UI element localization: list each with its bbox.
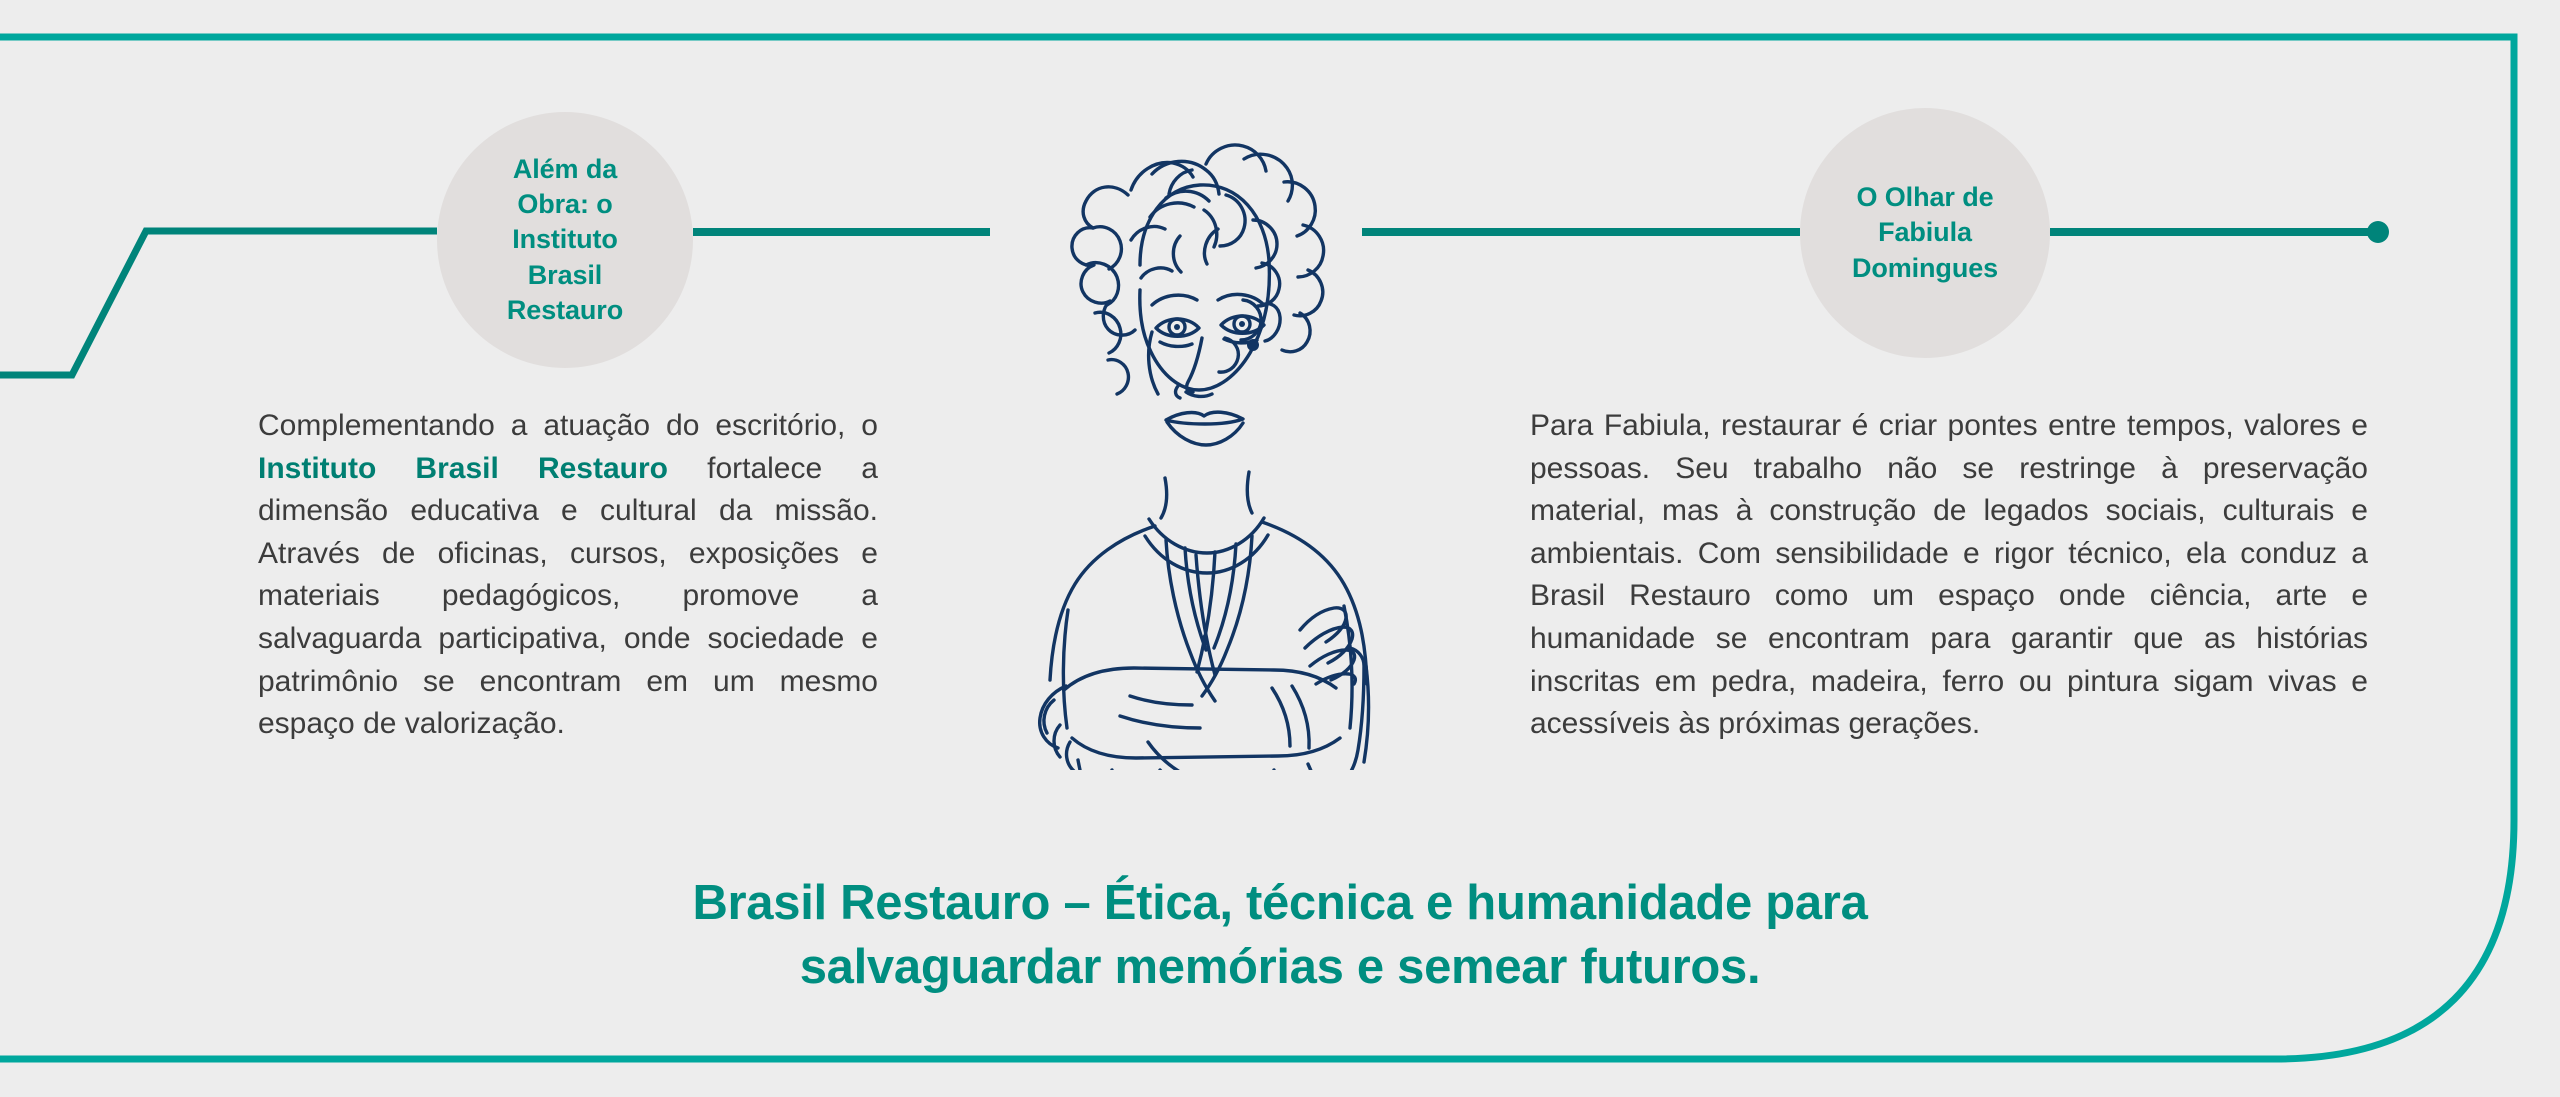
portrait-woman-icon (1000, 70, 1420, 770)
body-right-text: Para Fabiula, restaurar é criar pontes e… (1530, 409, 2368, 740)
body-left-text-after: fortalece a dimensão educativa e cultura… (258, 452, 878, 741)
infographic-canvas: Além da Obra: o Instituto Brasil Restaur… (0, 0, 2560, 1097)
endpoint-dot-icon (2367, 221, 2389, 243)
footer-headline: Brasil Restauro – Ética, técnica e human… (0, 872, 2560, 999)
node-circle-instituto[interactable]: Além da Obra: o Instituto Brasil Restaur… (437, 112, 693, 368)
body-left-highlight: Instituto Brasil Restauro (258, 452, 668, 485)
body-paragraph-right: Para Fabiula, restaurar é criar pontes e… (1530, 405, 2368, 746)
node-circle-olhar-fabiula-label: O Olhar de Fabiula Domingues (1824, 180, 2026, 285)
node-circle-olhar-fabiula[interactable]: O Olhar de Fabiula Domingues (1800, 108, 2050, 358)
footer-headline-line-1: Brasil Restauro – Ética, técnica e human… (0, 872, 2560, 936)
connector-left-entry (0, 231, 437, 375)
footer-headline-line-2: salvaguardar memórias e semear futuros. (0, 936, 2560, 1000)
portrait-illustration (1000, 70, 1420, 770)
body-paragraph-left: Complementando a atuação do escritório, … (258, 405, 878, 746)
body-left-text-before: Complementando a atuação do escritório, … (258, 409, 878, 442)
node-circle-instituto-label: Além da Obra: o Instituto Brasil Restaur… (471, 152, 659, 327)
